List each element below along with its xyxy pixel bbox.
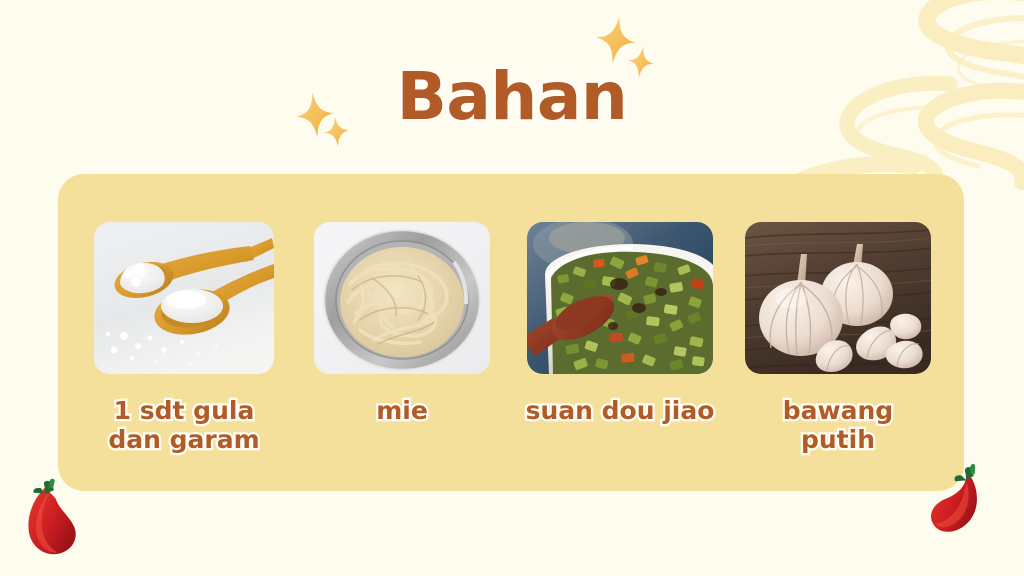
ingredient-card[interactable]: mie: [306, 222, 498, 491]
ingredient-label: 1 sdt gula dan garam: [88, 396, 280, 454]
ingredients-panel: 1 sdt gula dan garam: [58, 174, 964, 491]
ingredient-label: suan dou jiao: [526, 396, 715, 425]
ingredient-label: bawang putih: [742, 396, 934, 454]
ingredient-card[interactable]: 1 sdt gula dan garam: [88, 222, 280, 491]
ingredient-card[interactable]: bawang putih: [742, 222, 934, 491]
pickled-chopped-green-beans-bowl-photo: [527, 222, 713, 374]
garlic-bulbs-on-wood-photo: [745, 222, 931, 374]
page-title: Bahan: [0, 58, 1024, 135]
ingredient-card[interactable]: suan dou jiao: [524, 222, 716, 491]
ingredient-label: mie: [376, 396, 428, 425]
sugar-and-salt-on-wooden-spoons-photo: [94, 222, 274, 374]
cooked-noodles-in-strainer-photo: [314, 222, 490, 374]
ingredients-grid: 1 sdt gula dan garam: [58, 174, 964, 491]
